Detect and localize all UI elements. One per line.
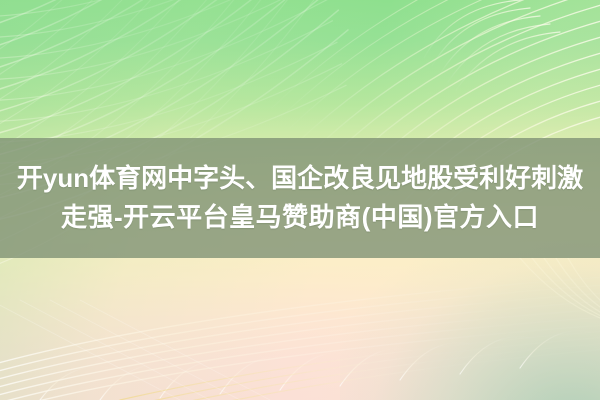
headline-band: 开yun体育网中字头、国企改良见地股受利好刺激 走强-开云平台皇马赞助商(中国)… [0,138,600,258]
promo-banner: 开yun体育网中字头、国企改良见地股受利好刺激 走强-开云平台皇马赞助商(中国)… [0,0,600,400]
headline-line-2: 走强-开云平台皇马赞助商(中国)官方入口 [61,198,539,237]
background-teal-accent [340,240,600,400]
headline-line-1: 开yun体育网中字头、国企改良见地股受利好刺激 [17,159,583,198]
